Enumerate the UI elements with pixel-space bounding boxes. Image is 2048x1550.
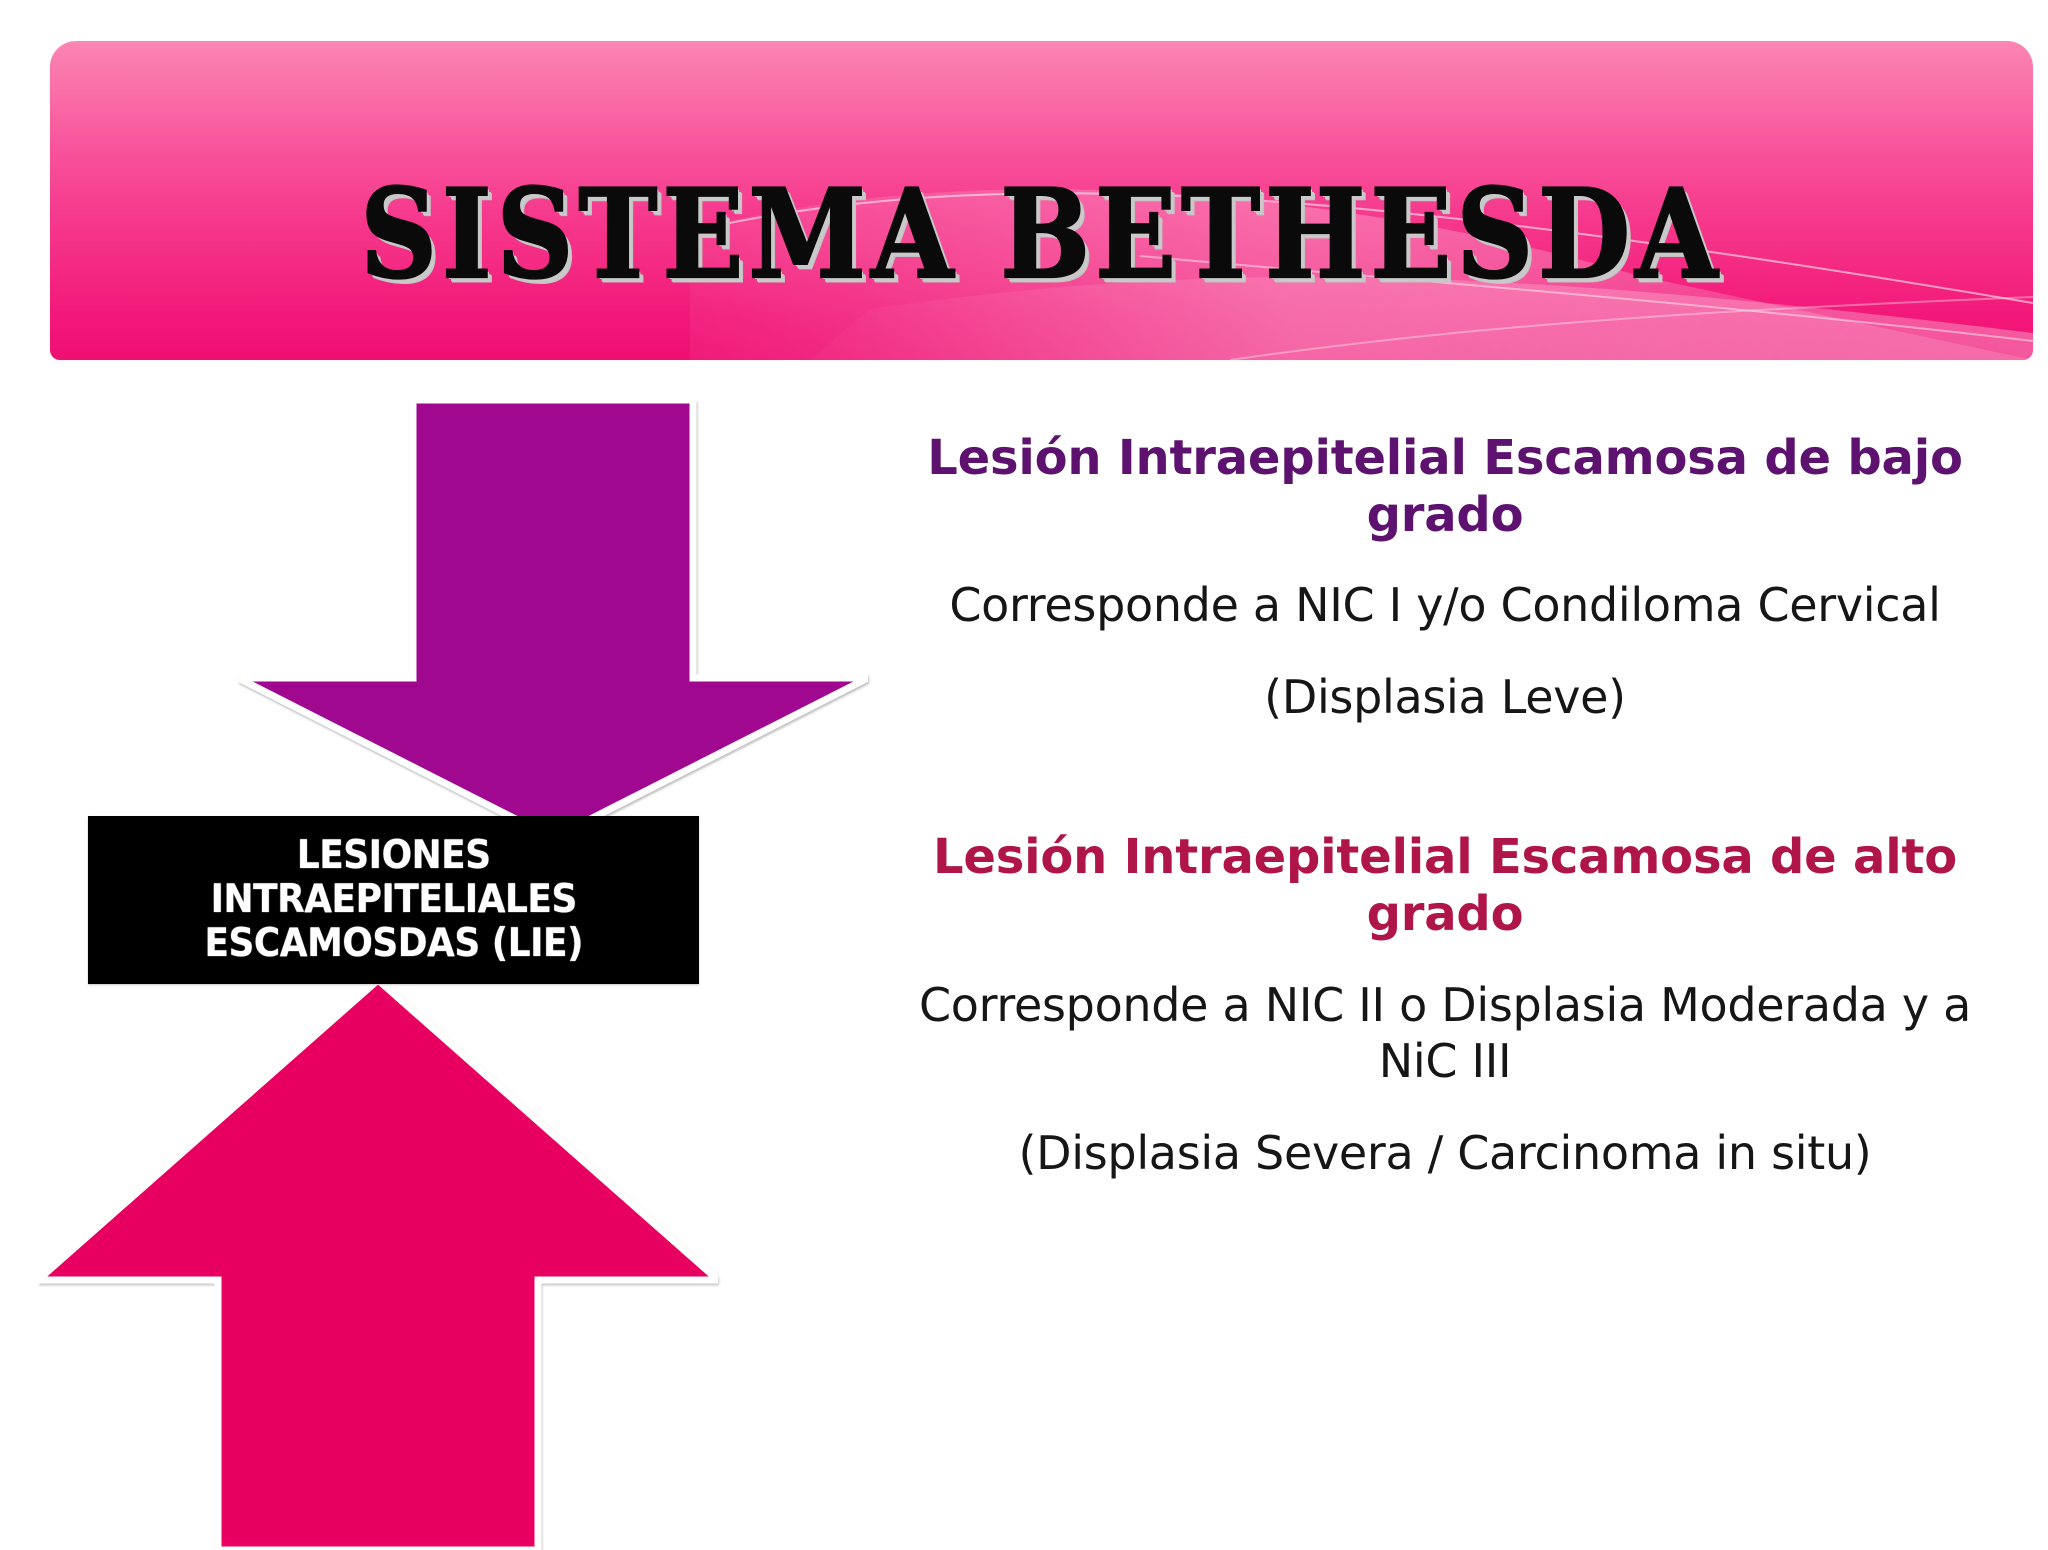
high-grade-block: Lesión Intraepitelial Escamosa de alto g… <box>880 829 2010 1181</box>
diagram-left-column: LESIONES INTRAEPITELIALES ESCAMOSDAS (LI… <box>0 380 900 1536</box>
pink-up-arrow-icon <box>38 980 718 1550</box>
high-grade-line-1: Corresponde a NIC II o Displasia Moderad… <box>880 977 2010 1089</box>
low-grade-note: (Displasia Leve) <box>880 669 2010 725</box>
high-grade-note: (Displasia Severa / Carcinoma in situ) <box>880 1125 2010 1181</box>
low-grade-block: Lesión Intraepitelial Escamosa de bajo g… <box>880 430 2010 725</box>
description-column: Lesión Intraepitelial Escamosa de bajo g… <box>880 430 2010 1181</box>
lesion-label-box: LESIONES INTRAEPITELIALES ESCAMOSDAS (LI… <box>88 816 699 984</box>
purple-down-arrow-icon <box>238 400 868 838</box>
slide-canvas: SISTEMA BETHESDA LESIONES INTRAEPITELIAL… <box>0 0 2048 1536</box>
page-title: SISTEMA BETHESDA <box>50 173 2033 296</box>
lesion-label-text: LESIONES INTRAEPITELIALES ESCAMOSDAS (LI… <box>204 834 583 965</box>
high-grade-heading: Lesión Intraepitelial Escamosa de alto g… <box>880 829 2010 942</box>
low-grade-heading: Lesión Intraepitelial Escamosa de bajo g… <box>880 430 2010 543</box>
low-grade-line-1: Corresponde a NIC I y/o Condiloma Cervic… <box>880 577 2010 633</box>
title-banner: SISTEMA BETHESDA <box>50 41 2033 360</box>
